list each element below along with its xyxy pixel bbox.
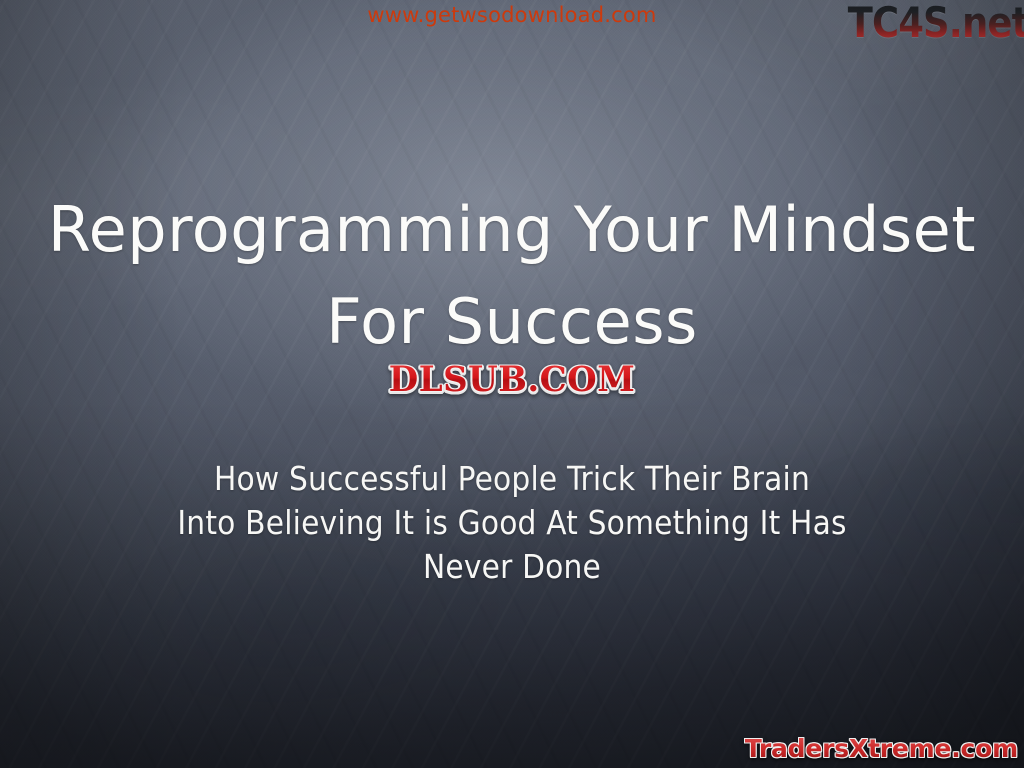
title-line-2: For Success	[0, 276, 1024, 368]
presentation-slide: www.getwsodownload.com TC4S.net Reprogra…	[0, 0, 1024, 768]
subtitle-line-2: Into Believing It is Good At Something I…	[0, 501, 1024, 545]
dlsub-stamp-watermark: DLSUB.COM	[0, 360, 1024, 400]
subtitle-line-3: Never Done	[0, 545, 1024, 589]
subtitle-line-1: How Successful People Trick Their Brain	[0, 457, 1024, 501]
title-line-1: Reprogramming Your Mindset	[0, 184, 1024, 276]
slide-title: Reprogramming Your Mindset For Success	[0, 184, 1024, 368]
tc4s-logo-watermark: TC4S.net	[847, 0, 1024, 48]
tradersxtreme-logo-watermark: TradersXtreme.com	[745, 734, 1018, 764]
dlsub-stamp-text: DLSUB.COM	[389, 360, 636, 400]
slide-subtitle: How Successful People Trick Their Brain …	[0, 457, 1024, 589]
